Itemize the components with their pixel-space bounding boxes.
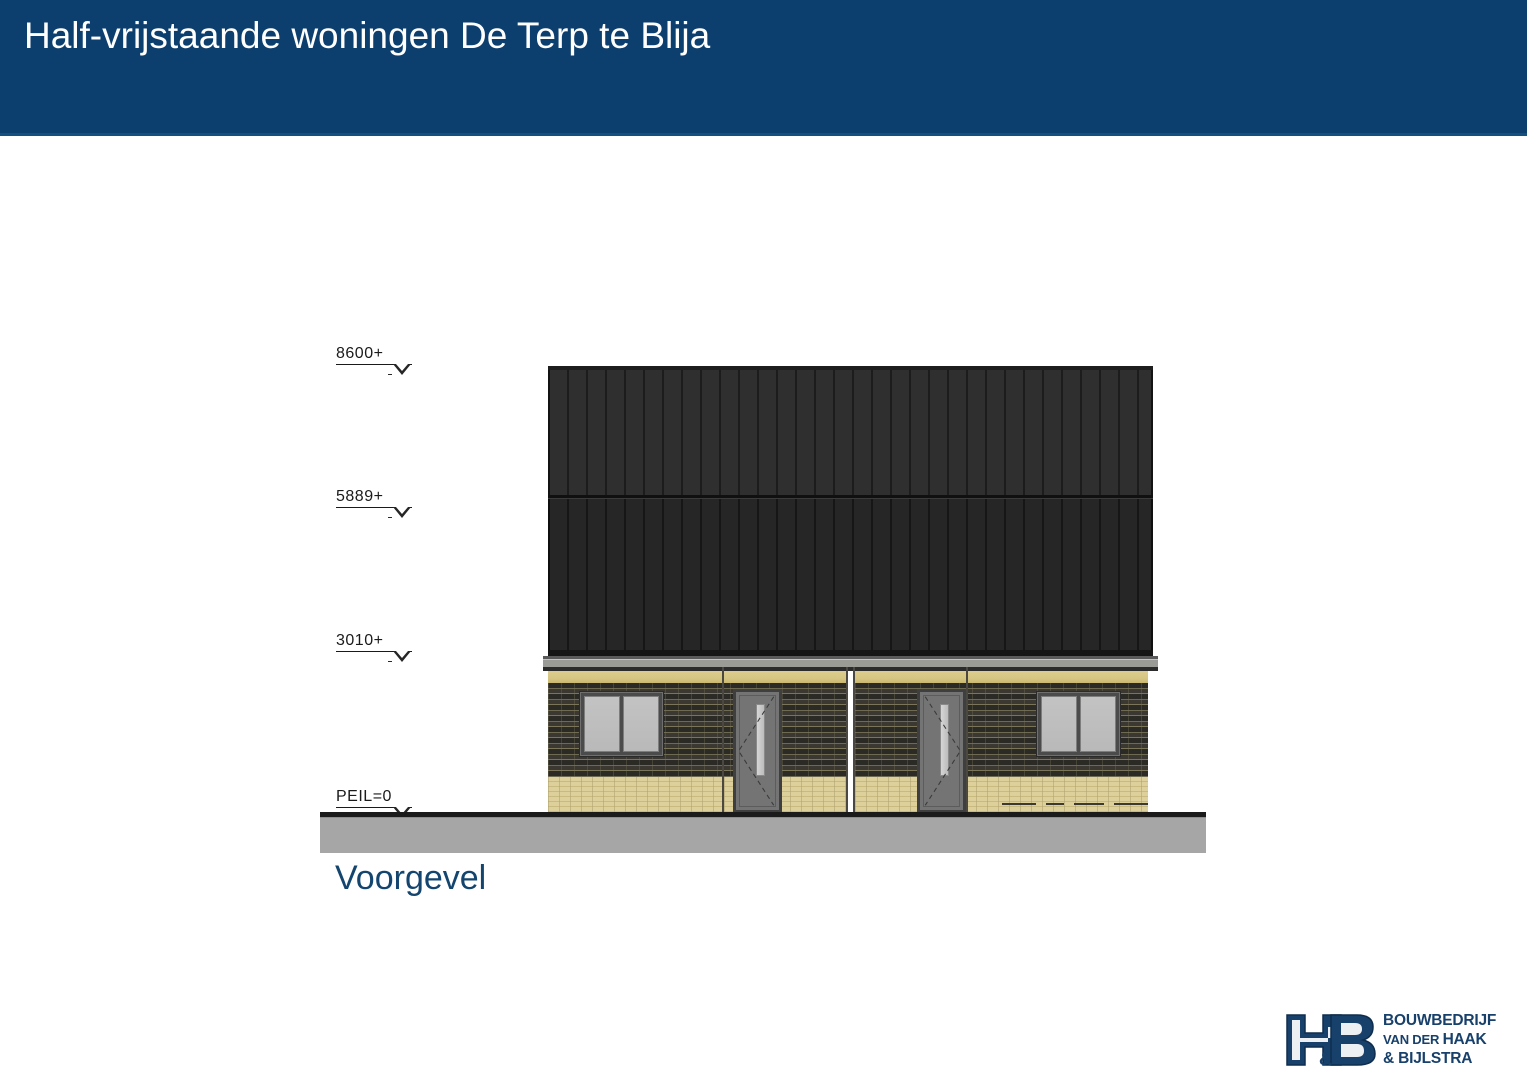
roof-horizontal-seam-highlight — [548, 498, 1153, 499]
door-left[interactable] — [733, 689, 782, 813]
window-right-pane-2 — [1080, 696, 1116, 752]
plinth-dash-2 — [1046, 803, 1064, 805]
building-elevation — [0, 0, 1527, 1080]
hb-monogram-icon: & — [1283, 1009, 1379, 1071]
window-right-pane-1 — [1041, 696, 1077, 752]
wall-joint-center-a — [846, 667, 848, 812]
window-left-pane-2 — [623, 696, 659, 752]
ground-band — [320, 817, 1206, 853]
wall-joint-center-b — [853, 667, 855, 812]
plinth-dash-3 — [1074, 803, 1104, 805]
logo-line-3: & BIJLSTRA — [1383, 1049, 1515, 1068]
svg-text:&: & — [1319, 1049, 1332, 1069]
plinth-dash-4 — [1114, 803, 1148, 805]
facade-left-top-band — [548, 671, 848, 683]
company-logo: & BOUWBEDRIJF VAN DER HAAK & BIJLSTRA — [1283, 1009, 1515, 1071]
logo-line-2: VAN DER HAAK — [1383, 1030, 1515, 1049]
wall-joint-left-inner — [722, 667, 724, 812]
roof-surface — [548, 370, 1153, 655]
door-left-glass-strip — [756, 704, 765, 776]
window-left-pane-1 — [584, 696, 620, 752]
window-right[interactable] — [1037, 692, 1120, 756]
facade-right-top-band — [855, 671, 1148, 683]
facade-right-plinth-brick — [855, 777, 1148, 812]
door-right[interactable] — [917, 689, 966, 813]
logo-line-2-small: VAN DER — [1383, 1032, 1443, 1047]
window-left[interactable] — [580, 692, 663, 756]
fascia-band — [543, 659, 1158, 667]
facade-left-plinth-brick — [548, 777, 848, 812]
plinth-dash-1 — [1002, 803, 1036, 805]
slide-canvas: Half-vrijstaande woningen De Terp te Bli… — [0, 0, 1527, 1080]
door-right-glass-strip — [940, 704, 949, 776]
wall-joint-right-inner — [966, 667, 968, 812]
logo-line-2-large: HAAK — [1443, 1031, 1487, 1048]
drawing-caption: Voorgevel — [335, 857, 486, 899]
logo-line-1: BOUWBEDRIJF — [1383, 1011, 1515, 1030]
logo-wordmark: BOUWBEDRIJF VAN DER HAAK & BIJLSTRA — [1383, 1011, 1515, 1068]
